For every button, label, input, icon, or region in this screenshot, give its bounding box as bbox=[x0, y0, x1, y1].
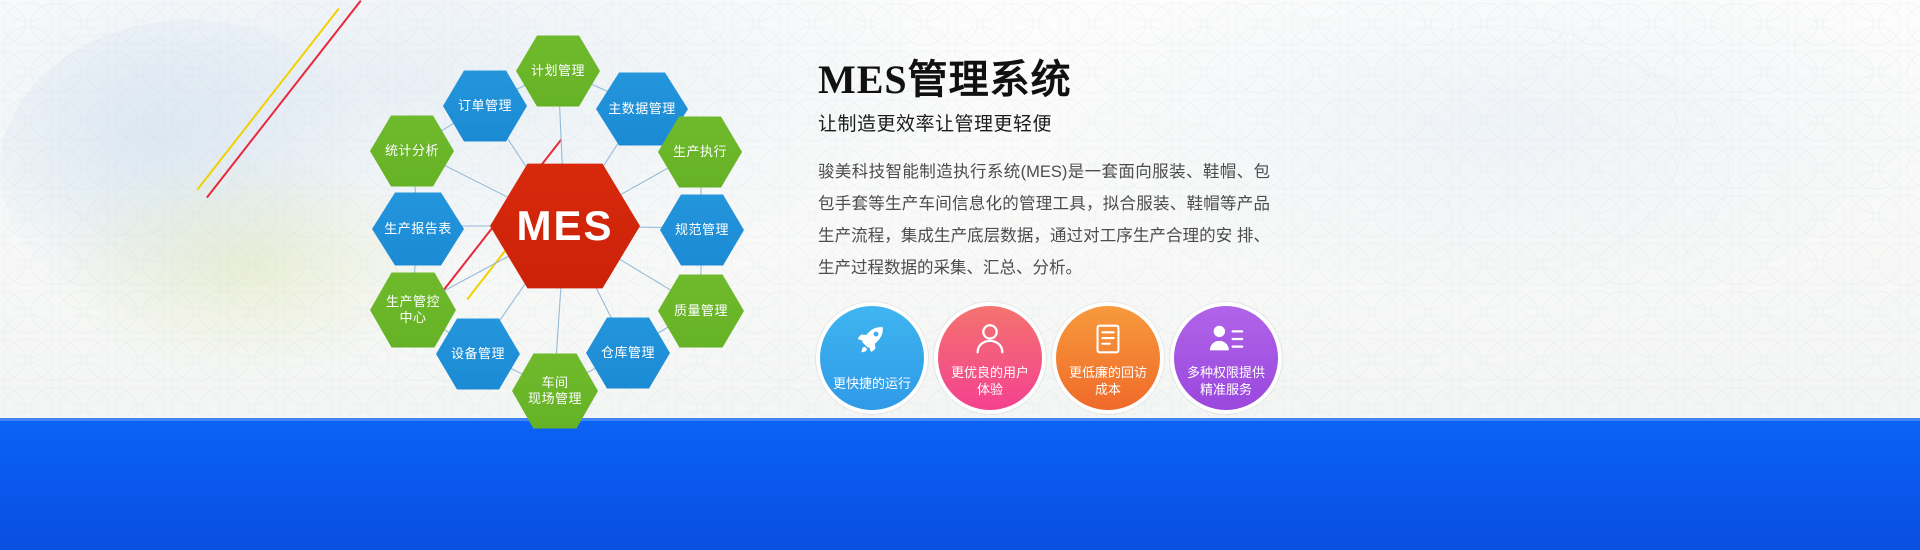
background-bottom-band bbox=[0, 418, 1920, 550]
hex-node-label: 车间现场管理 bbox=[528, 375, 582, 408]
page-subtitle: 让制造更效率让管理更轻便 bbox=[818, 109, 1288, 136]
hex-node-label: 规范管理 bbox=[675, 222, 729, 238]
hex-node-label: 仓库管理 bbox=[601, 345, 655, 361]
feature-badge-label: 多种权限提供精准服务 bbox=[1179, 364, 1273, 398]
feature-badge-ux[interactable]: 更优良的用户体验 bbox=[938, 306, 1042, 410]
feature-badge-label: 更快捷的运行 bbox=[825, 375, 919, 398]
hex-node-label: 生产报告表 bbox=[384, 221, 452, 237]
page-title: MES管理系统 bbox=[818, 58, 1288, 103]
feature-badge-label: 更优良的用户体验 bbox=[943, 364, 1037, 398]
hex-node-label: 生产执行 bbox=[673, 144, 727, 160]
hex-node-label: 主数据管理 bbox=[608, 101, 676, 117]
hex-node-label: 生产管控中心 bbox=[386, 294, 440, 327]
user-list-icon bbox=[1207, 320, 1245, 358]
feature-badge-label: 更低廉的回访成本 bbox=[1061, 364, 1155, 398]
description-paragraph: 骏美科技智能制造执行系统(MES)是一套面向服装、鞋帽、包包手套等生产车间信息化… bbox=[818, 156, 1270, 284]
hex-node-label: 质量管理 bbox=[674, 303, 728, 319]
user-icon bbox=[971, 320, 1009, 358]
rocket-icon bbox=[853, 320, 891, 358]
hex-node-label: 订单管理 bbox=[458, 98, 512, 114]
banner-copy: MES管理系统 让制造更效率让管理更轻便 骏美科技智能制造执行系统(MES)是一… bbox=[818, 58, 1288, 284]
diagram-core-label: MES bbox=[516, 200, 613, 253]
feature-badge-service[interactable]: 多种权限提供精准服务 bbox=[1174, 306, 1278, 410]
hex-node-label: 统计分析 bbox=[385, 143, 439, 159]
document-icon bbox=[1089, 320, 1127, 358]
feature-badge-cost[interactable]: 更低廉的回访成本 bbox=[1056, 306, 1160, 410]
feature-badge-list: 更快捷的运行 更优良的用户体验 bbox=[820, 306, 1278, 410]
hex-node-label: 计划管理 bbox=[531, 63, 585, 79]
mes-promo-banner: MES 计划管理 订单管理 主数据管理 统计分析 生产执行 生产报告表 规范管理… bbox=[0, 0, 1920, 550]
hex-node-label: 设备管理 bbox=[451, 346, 505, 362]
mes-hexagon-diagram: MES 计划管理 订单管理 主数据管理 统计分析 生产执行 生产报告表 规范管理… bbox=[330, 18, 800, 438]
feature-badge-speed[interactable]: 更快捷的运行 bbox=[820, 306, 924, 410]
